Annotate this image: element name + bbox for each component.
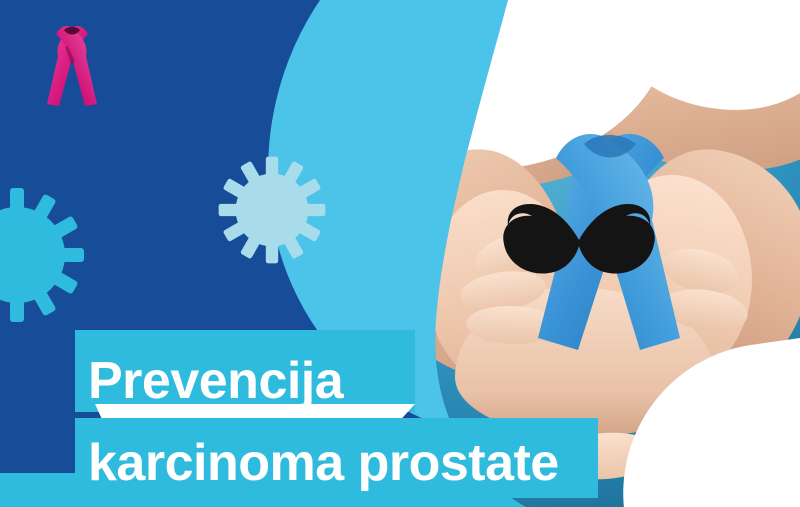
gear-mark-left-icon	[0, 180, 92, 330]
headline-line-2: karcinoma prostate	[88, 437, 559, 489]
headline-line-1: Prevencija	[88, 355, 343, 407]
pink-awareness-ribbon-icon	[44, 16, 100, 113]
gear-mark-center-icon	[214, 152, 330, 268]
moustache-icon	[484, 184, 674, 299]
bottom-left-blue-wedge	[0, 413, 80, 473]
poster-canvas: Prevencija karcinoma prostate	[0, 0, 800, 507]
